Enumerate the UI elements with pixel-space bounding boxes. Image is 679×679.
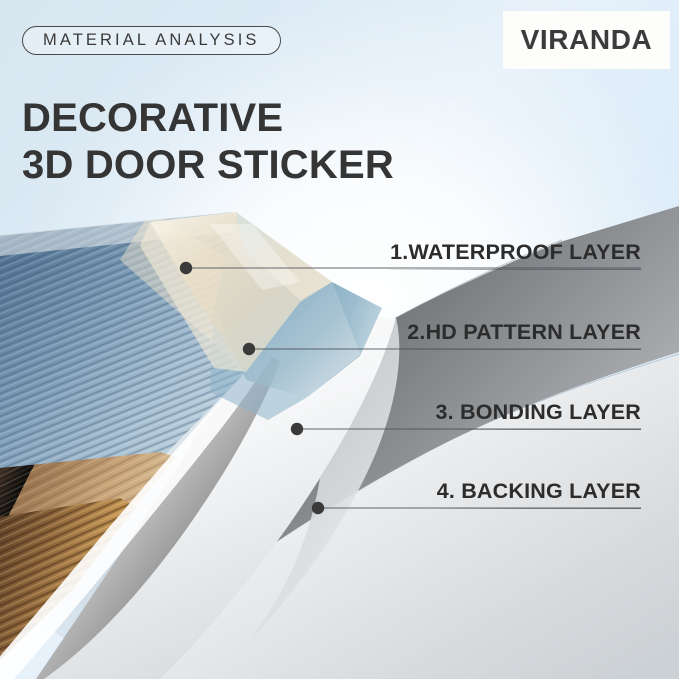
- badge-label: MATERIAL ANALYSIS: [43, 31, 260, 50]
- material-analysis-badge: MATERIAL ANALYSIS: [22, 26, 281, 55]
- callout-text-4: 4. BACKING LAYER: [437, 479, 641, 503]
- callout-label-4: 4. BACKING LAYER: [437, 479, 641, 509]
- callout-rule-4: [437, 508, 641, 509]
- callout-label-2: 2.HD PATTERN LAYER: [407, 320, 641, 350]
- callout-text-2: 2.HD PATTERN LAYER: [407, 320, 641, 344]
- callout-text-1: 1.WATERPROOF LAYER: [390, 240, 641, 264]
- callout-rule-2: [407, 349, 641, 350]
- marker-dot-2: [243, 343, 255, 355]
- callout-label-3: 3. BONDING LAYER: [436, 400, 642, 430]
- brand-name: VIRANDA: [521, 24, 653, 56]
- callout-rule-1: [390, 269, 641, 270]
- callout-label-1: 1.WATERPROOF LAYER: [390, 240, 641, 270]
- marker-dot-1: [180, 262, 192, 274]
- title-line-1: DECORATIVE: [22, 96, 283, 140]
- marker-dot-3: [291, 423, 303, 435]
- callout-rule-3: [436, 429, 642, 430]
- callout-text-3: 3. BONDING LAYER: [436, 400, 642, 424]
- title-line-2: 3D DOOR STICKER: [22, 142, 394, 189]
- marker-dot-4: [312, 502, 324, 514]
- page-title: DECORATIVE 3D DOOR STICKER: [22, 95, 394, 189]
- material-analysis-poster: MATERIAL ANALYSIS VIRANDA DECORATIVE 3D …: [0, 0, 679, 679]
- brand-logo-box: VIRANDA: [503, 11, 670, 69]
